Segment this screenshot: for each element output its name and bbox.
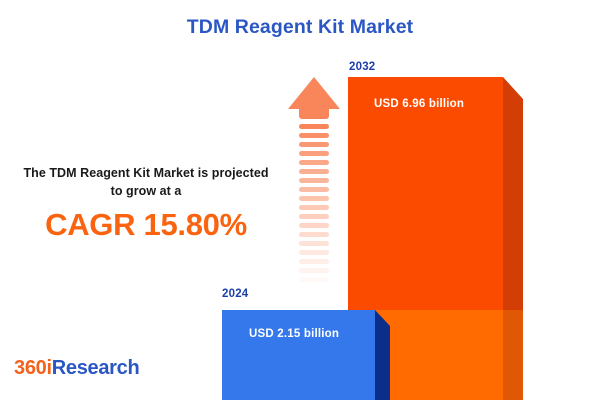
cagr-value-text: CAGR 15.80% — [20, 207, 272, 243]
arrow-segment — [299, 169, 329, 174]
arrow-segment — [299, 142, 329, 147]
arrow-segment — [299, 133, 329, 138]
arrow-segment — [299, 214, 329, 219]
arrow-segment — [299, 232, 329, 237]
bar-2032-side-lower-highlight — [503, 310, 523, 400]
market-infographic: TDM Reagent Kit Market 2032 USD 6.96 bil… — [0, 0, 600, 400]
bar-value-2024: USD 2.15 billion — [249, 328, 339, 340]
arrow-segment — [299, 124, 329, 129]
arrow-segment — [299, 223, 329, 228]
page-title: TDM Reagent Kit Market — [0, 16, 600, 39]
cagr-callout: The TDM Reagent Kit Market is projected … — [20, 165, 272, 243]
logo-research: Research — [52, 357, 140, 379]
bar-value-2032: USD 6.96 billion — [374, 98, 464, 110]
year-label-2032: 2032 — [349, 61, 375, 73]
logo-360i: 360i — [14, 357, 52, 379]
arrow-head-icon — [288, 77, 340, 109]
growth-arrow-icon — [288, 77, 340, 292]
arrow-segment — [299, 151, 329, 156]
arrow-segment — [299, 205, 329, 210]
arrow-segment — [299, 187, 329, 192]
bar-2024-side-face — [375, 310, 390, 400]
arrow-segment — [299, 250, 329, 255]
arrow-segment — [299, 277, 329, 282]
arrow-segment — [299, 268, 329, 273]
arrow-neck — [299, 107, 329, 119]
arrow-segment — [299, 196, 329, 201]
brand-logo: 360iResearch — [14, 357, 139, 380]
year-label-2024: 2024 — [222, 288, 248, 300]
arrow-segment — [299, 160, 329, 165]
bar-2024-front-face — [222, 310, 375, 400]
arrow-segment — [299, 241, 329, 246]
bar-2024 — [222, 310, 390, 400]
cagr-intro-text: The TDM Reagent Kit Market is projected … — [20, 165, 272, 201]
arrow-segment-stack — [299, 124, 329, 292]
arrow-segment — [299, 286, 329, 291]
arrow-segment — [299, 178, 329, 183]
arrow-segment — [299, 259, 329, 264]
